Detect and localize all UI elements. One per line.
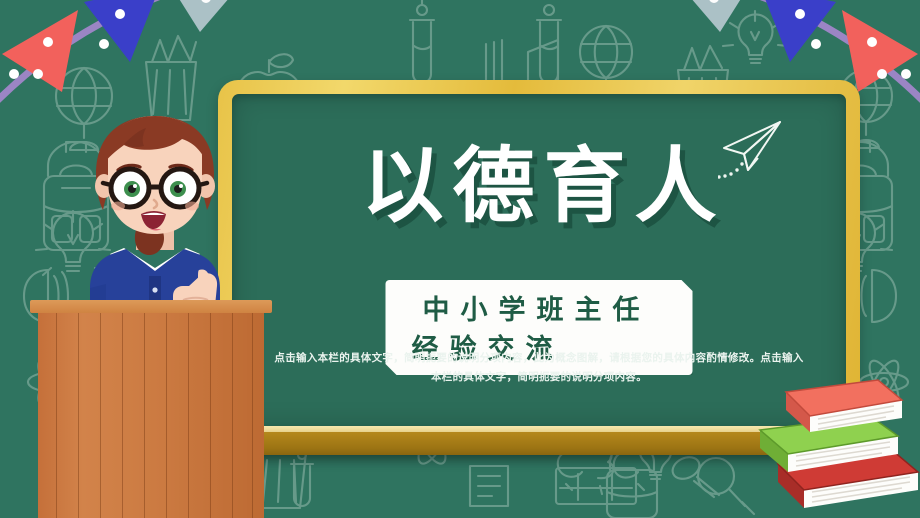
presentation-slide: 以德育人 中小学班主任经验交流 点击输入本栏的具体文字，简明扼要的说明分项内容，… bbox=[0, 0, 920, 518]
page-title: 以德育人 bbox=[232, 146, 846, 228]
book-stack bbox=[742, 378, 920, 518]
flag-blue-right bbox=[760, 0, 836, 62]
podium-top-surface bbox=[30, 300, 272, 313]
flag-blue-left bbox=[84, 0, 160, 62]
flag-coral-left bbox=[2, 10, 78, 92]
podium-body bbox=[38, 313, 264, 518]
body-paragraph: 点击输入本栏的具体文字，简明扼要的说明分项内容，此为概念图解，请根据您的具体内容… bbox=[270, 349, 808, 388]
flag-pale-left bbox=[166, 0, 236, 32]
book-top bbox=[786, 380, 902, 432]
flag-pale-right bbox=[684, 0, 754, 32]
book-doodle bbox=[470, 466, 508, 506]
wooden-podium bbox=[38, 300, 264, 518]
